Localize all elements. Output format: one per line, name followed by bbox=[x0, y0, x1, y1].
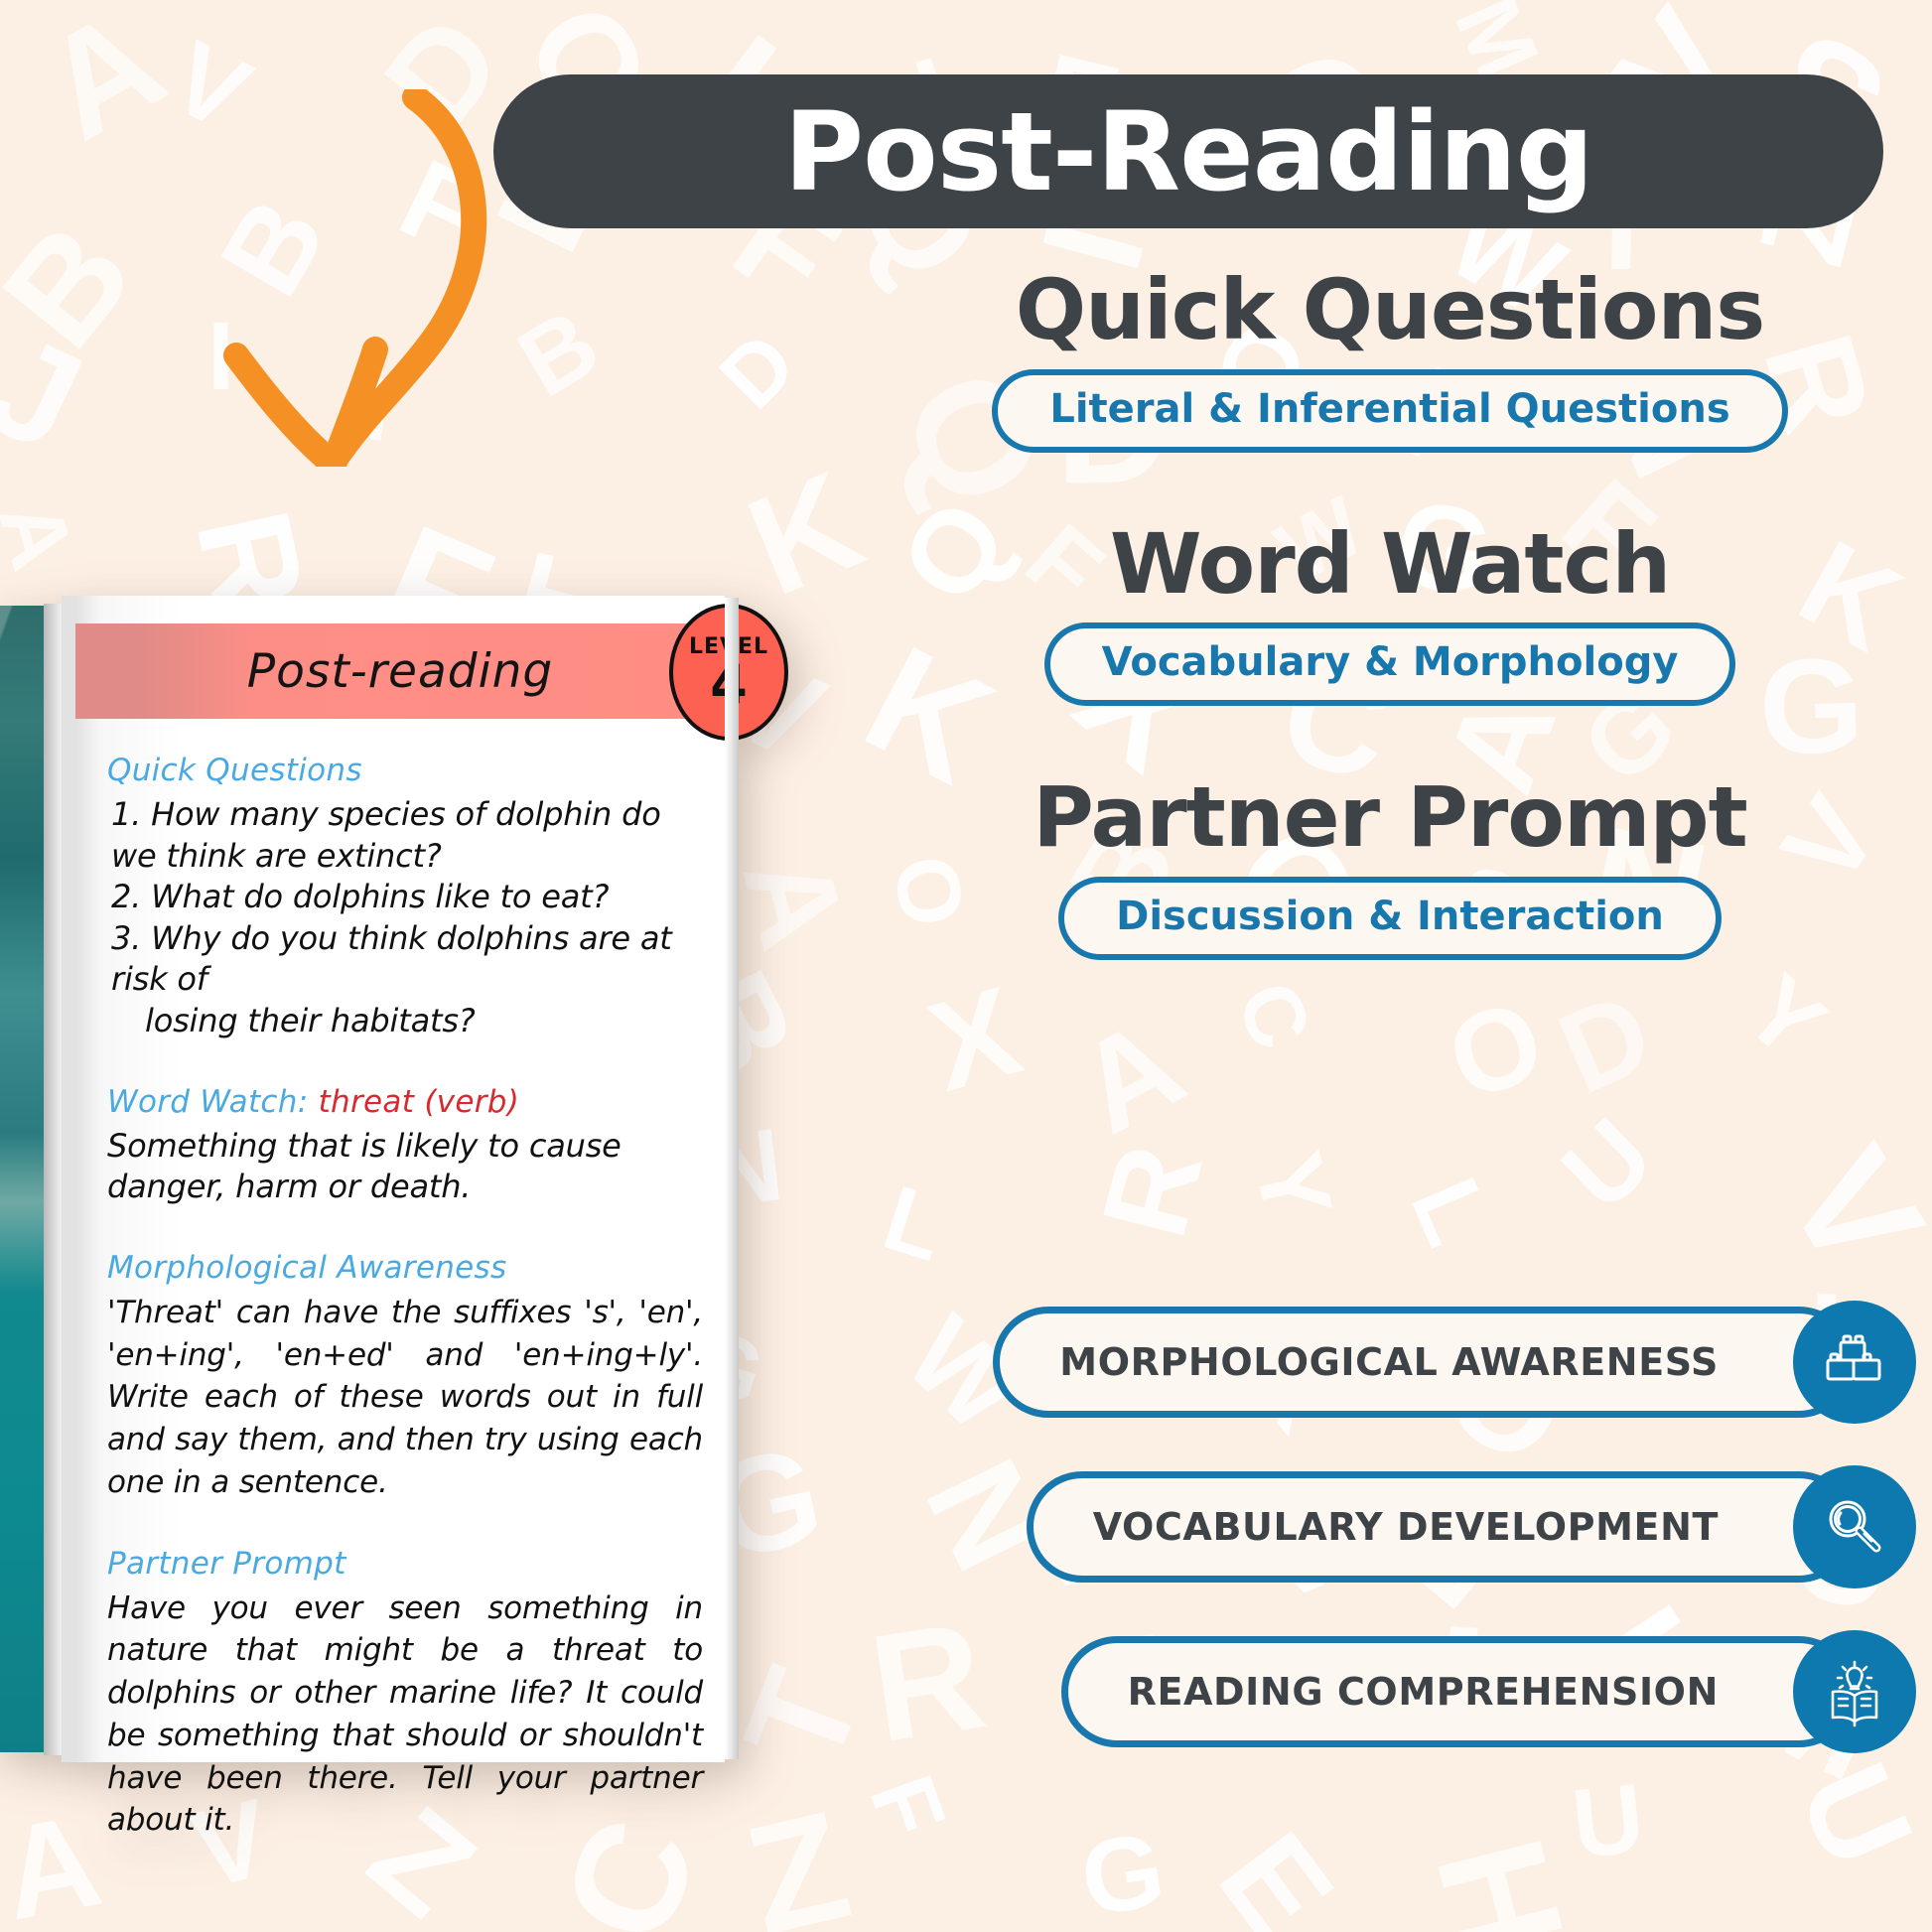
feature-pill-label: READING COMPREHENSION bbox=[1128, 1673, 1719, 1711]
worksheet-section-morphological-awareness: Morphological Awareness 'Threat' can hav… bbox=[107, 1250, 703, 1504]
feature-pill-vocabulary-development[interactable]: VOCABULARY DEVELOPMENT bbox=[864, 1465, 1916, 1588]
word-watch-target-word: threat (verb) bbox=[319, 1084, 520, 1120]
page-title: Post-Reading bbox=[784, 88, 1593, 215]
feature-pill-morphological-awareness[interactable]: MORPHOLOGICAL AWARENESS bbox=[864, 1301, 1916, 1424]
magnifying-glass-icon bbox=[1793, 1465, 1916, 1588]
pill-body: VOCABULARY DEVELOPMENT bbox=[1027, 1471, 1855, 1583]
badge-row-word-watch: Vocabulary & Morphology bbox=[874, 622, 1906, 706]
word-watch-label: Word Watch: bbox=[107, 1084, 319, 1120]
badge-row-partner-prompt: Discussion & Interaction bbox=[874, 877, 1906, 960]
feature-pill-label: VOCABULARY DEVELOPMENT bbox=[1093, 1508, 1719, 1546]
orange-arrow-icon bbox=[169, 89, 496, 467]
worksheet-page: Post-reading LEVEL 4 Quick Questions 1. … bbox=[62, 596, 725, 1762]
poster-canvas: AVDQKIFCMVSBBFLFQIMWIZJIIBDQDOINRARFTKQF… bbox=[0, 0, 1932, 1932]
worksheet-question-2: 2. What do dolphins like to eat? bbox=[107, 877, 703, 918]
worksheet-section-partner-prompt: Partner Prompt Have you ever seen someth… bbox=[107, 1546, 703, 1843]
worksheet-body: Quick Questions 1. How many species of d… bbox=[107, 753, 703, 1883]
worksheet-section-word-watch: Word Watch: threat (verb) Something that… bbox=[107, 1084, 703, 1208]
badge-row-quick-questions: Literal & Inferential Questions bbox=[874, 369, 1906, 453]
badge-discussion-interaction[interactable]: Discussion & Interaction bbox=[1058, 877, 1722, 960]
section-partner-prompt: Partner Prompt Discussion & Interaction bbox=[874, 775, 1906, 960]
worksheet-header-band: Post-reading bbox=[75, 623, 725, 719]
worksheet-question-1: 1. How many species of dolphin do we thi… bbox=[107, 794, 703, 877]
worksheet-question-3-continued: losing their habitats? bbox=[107, 1001, 703, 1042]
section-heading-quick-questions: Quick Questions bbox=[874, 268, 1906, 353]
open-book-lightbulb-icon bbox=[1793, 1630, 1916, 1753]
book-photo-page bbox=[0, 606, 44, 1752]
worksheet-heading-quick-questions: Quick Questions bbox=[107, 753, 703, 788]
section-heading-partner-prompt: Partner Prompt bbox=[874, 775, 1906, 861]
book-gutter bbox=[44, 604, 62, 1755]
worksheet-partner-prompt-body: Have you ever seen something in nature t… bbox=[107, 1587, 703, 1843]
worksheet-heading-partner-prompt: Partner Prompt bbox=[107, 1546, 703, 1582]
worksheet-question-3: 3. Why do you think dolphins are at risk… bbox=[107, 918, 703, 1001]
pill-body: MORPHOLOGICAL AWARENESS bbox=[993, 1307, 1855, 1418]
pill-body: READING COMPREHENSION bbox=[1061, 1636, 1855, 1747]
worksheet-word-watch-definition: Something that is likely to cause danger… bbox=[107, 1126, 703, 1208]
badge-vocabulary-morphology[interactable]: Vocabulary & Morphology bbox=[1044, 622, 1736, 706]
building-blocks-icon bbox=[1793, 1301, 1916, 1424]
feature-pill-label: MORPHOLOGICAL AWARENESS bbox=[1059, 1343, 1719, 1381]
worksheet-section-quick-questions: Quick Questions 1. How many species of d… bbox=[107, 753, 703, 1042]
feature-pill-list: MORPHOLOGICAL AWARENESS bbox=[864, 1301, 1916, 1795]
worksheet-header-title: Post-reading bbox=[247, 644, 554, 699]
section-word-watch: Word Watch Vocabulary & Morphology bbox=[874, 522, 1906, 707]
worksheet-heading-morphological-awareness: Morphological Awareness bbox=[107, 1250, 703, 1286]
badge-literal-inferential-questions[interactable]: Literal & Inferential Questions bbox=[992, 369, 1787, 453]
page-title-banner: Post-Reading bbox=[493, 74, 1883, 228]
feature-pill-reading-comprehension[interactable]: READING COMPREHENSION bbox=[864, 1630, 1916, 1753]
worksheet-morphological-awareness-body: 'Threat' can have the suffixes 's', 'en'… bbox=[107, 1292, 703, 1504]
section-heading-word-watch: Word Watch bbox=[874, 522, 1906, 608]
section-quick-questions: Quick Questions Literal & Inferential Qu… bbox=[874, 268, 1906, 453]
open-book-worksheet: Post-reading LEVEL 4 Quick Questions 1. … bbox=[0, 596, 935, 1777]
right-content-column: Quick Questions Literal & Inferential Qu… bbox=[874, 268, 1906, 1030]
page-edge-shadow bbox=[725, 598, 739, 1759]
worksheet-heading-word-watch: Word Watch: threat (verb) bbox=[107, 1084, 703, 1120]
